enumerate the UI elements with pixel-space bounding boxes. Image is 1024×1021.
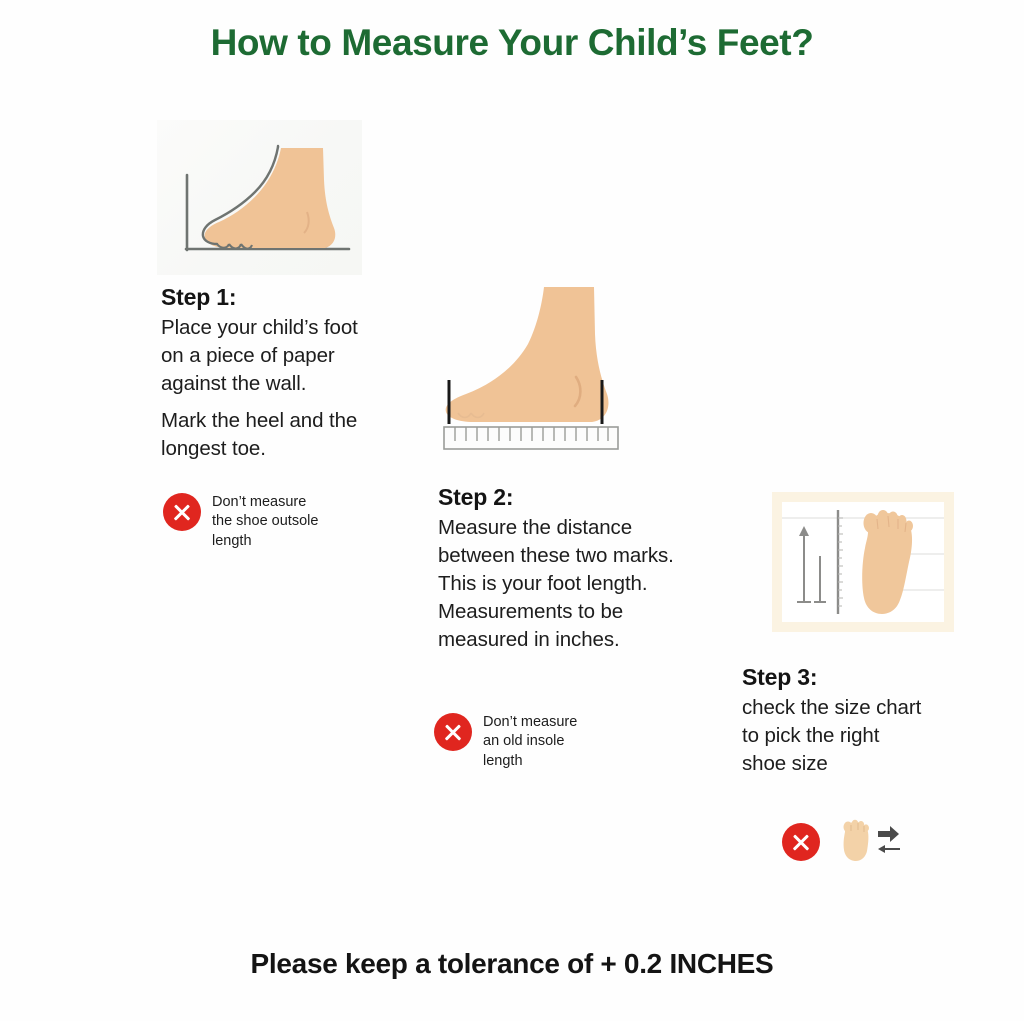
step-1-line-5: longest toe.: [161, 437, 266, 460]
step-2-line-1: Measure the distance: [438, 516, 632, 539]
tolerance-note: Please keep a tolerance of + 0.2 INCHES: [0, 948, 1024, 980]
page-title: How to Measure Your Child’s Feet?: [0, 22, 1024, 64]
foot-on-ruler-diagram: [436, 282, 632, 454]
paragraph-gap: [161, 398, 383, 407]
step-1-figure: [157, 120, 362, 275]
step-1-heading: Step 1:: [161, 284, 383, 311]
step-1-body: Place your child’s foot on a piece of pa…: [161, 314, 383, 463]
step-2-line-5: measured in inches.: [438, 628, 620, 651]
step-1-block: Step 1: Place your child’s foot on a pie…: [161, 284, 383, 463]
step-1-warning: Don’t measure the shoe outsole length: [163, 491, 378, 551]
step-1-line-2: on a piece of paper: [161, 344, 335, 367]
step-3-line-1: check the size chart: [742, 696, 921, 719]
step-1-line-1: Place your child’s foot: [161, 316, 358, 339]
step-2-heading: Step 2:: [438, 484, 738, 511]
step-2-body: Measure the distance between these two m…: [438, 514, 738, 654]
size-chart-foot-sole-diagram: [782, 502, 944, 622]
step-3-body: check the size chart to pick the right s…: [742, 694, 972, 778]
size-chart-card: [782, 502, 944, 622]
foot-against-wall-diagram: [157, 120, 362, 275]
step-3-block: Step 3: check the size chart to pick the…: [742, 664, 972, 778]
step-3-line-2: to pick the right: [742, 724, 879, 747]
step-2-warning: Don’t measure an old insole length: [434, 711, 654, 771]
step-3-line-3: shoe size: [742, 752, 828, 775]
red-cross-icon: [434, 713, 472, 751]
step-3-warning: [782, 821, 912, 865]
step-2-line-3: This is your foot length.: [438, 572, 647, 595]
step-2-block: Step 2: Measure the distance between the…: [438, 484, 738, 654]
step-1-line-3: against the wall.: [161, 372, 306, 395]
red-cross-icon: [163, 493, 201, 531]
step-2-warning-text: Don’t measure an old insole length: [483, 711, 577, 771]
step-3-heading: Step 3:: [742, 664, 972, 691]
step-1-line-4: Mark the heel and the: [161, 409, 357, 432]
step-2-figure: [436, 282, 632, 454]
step-1-warning-text: Don’t measure the shoe outsole length: [212, 491, 318, 551]
step-2-line-4: Measurements to be: [438, 600, 623, 623]
step-3-figure: [772, 492, 954, 632]
foot-sole-arrows-icon: [834, 819, 868, 865]
step-2-line-2: between these two marks.: [438, 544, 674, 567]
red-cross-icon: [782, 823, 820, 861]
measurement-guide-page: How to Measure Your Child’s Feet? Step 1…: [0, 0, 1024, 1021]
